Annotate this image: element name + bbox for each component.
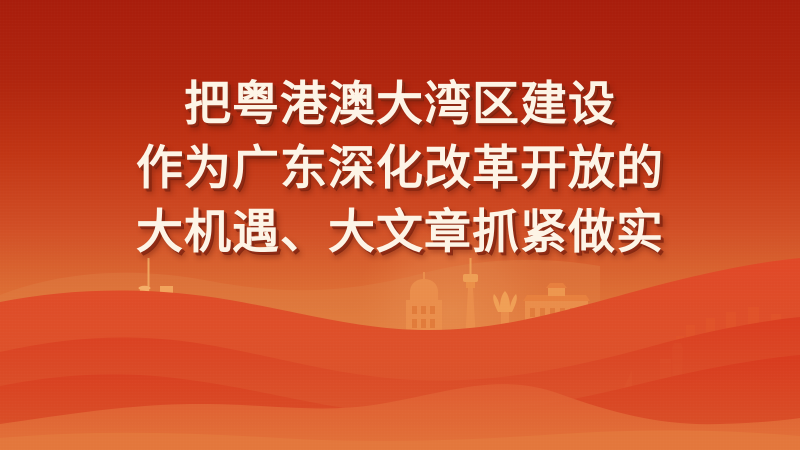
poster-canvas: 把粤港澳大湾区建设 作为广东深化改革开放的 大机遇、大文章抓紧做实 [0,0,800,450]
headline-line-1: 把粤港澳大湾区建设 [0,72,800,136]
headline-line-2: 作为广东深化改革开放的 [0,136,800,200]
headline-line-3: 大机遇、大文章抓紧做实 [0,200,800,264]
headline-block: 把粤港澳大湾区建设 作为广东深化改革开放的 大机遇、大文章抓紧做实 [0,72,800,264]
